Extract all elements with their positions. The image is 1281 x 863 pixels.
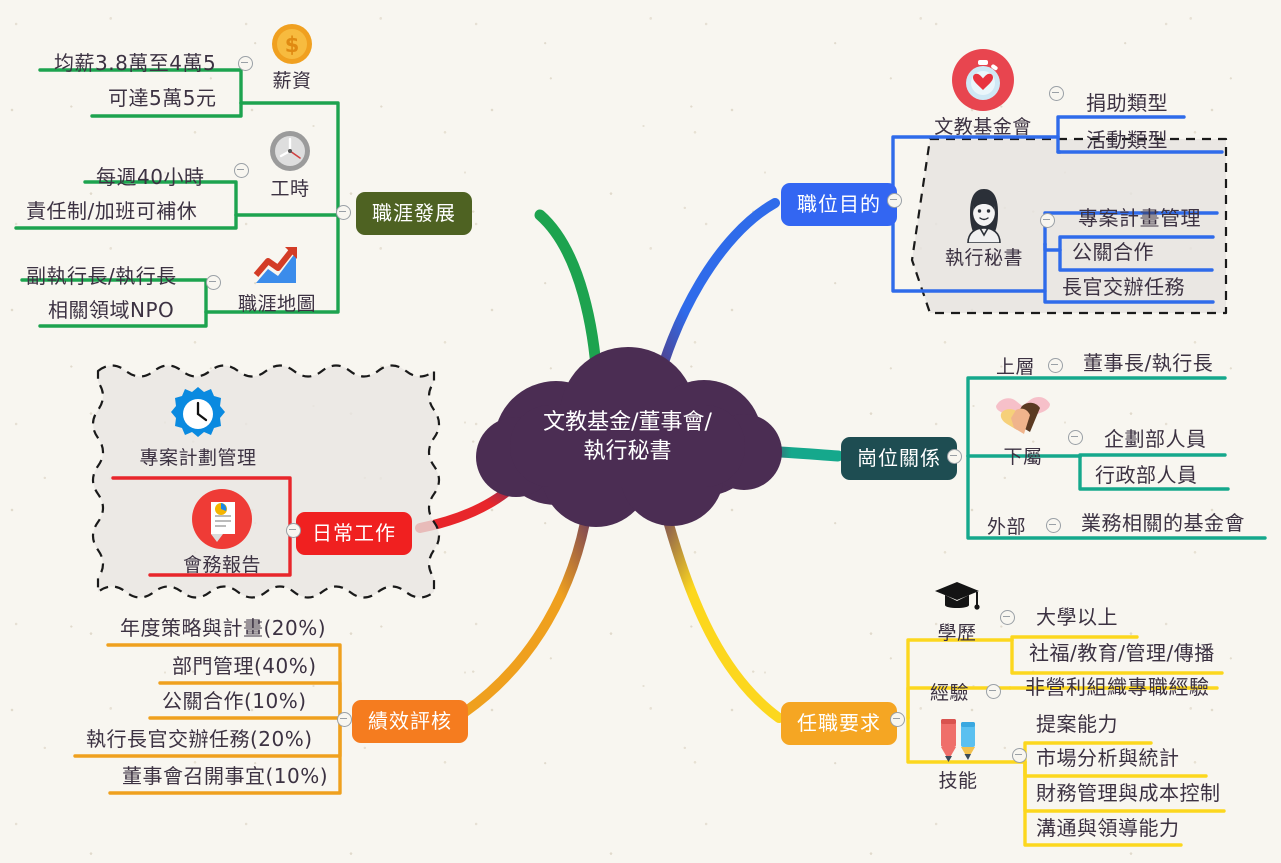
collapse-toggle-icon-daily-work[interactable]: [286, 523, 301, 538]
leaf-perf-dept-management[interactable]: 部門管理(40%): [172, 656, 317, 676]
group-label-salary: 薪資: [272, 66, 311, 93]
leaf-career-exec[interactable]: 副執行長/執行長: [26, 266, 177, 286]
collapse-toggle-icon-career-map[interactable]: [206, 275, 221, 290]
group-label-career-map: 職涯地圖: [238, 289, 316, 316]
collapse-toggle-icon-experience[interactable]: [986, 684, 1001, 699]
group-label-experience[interactable]: 經驗: [930, 678, 969, 705]
leaf-chairman-ceo[interactable]: 董事長/執行長: [1083, 353, 1213, 373]
group-label-external[interactable]: 外部: [987, 512, 1026, 539]
group-label-executive-secretary: 執行秘書: [945, 243, 1023, 270]
collapse-toggle-icon-external[interactable]: [1046, 518, 1061, 533]
growth-chart-icon: [252, 243, 302, 289]
report-document-icon: [191, 488, 253, 550]
group-executive-secretary[interactable]: 執行秘書: [938, 185, 1030, 270]
group-label-skills: 技能: [938, 766, 977, 793]
collapse-toggle-icon-upper[interactable]: [1048, 358, 1063, 373]
group-label-education: 學歷: [937, 618, 976, 645]
branch-pill-position-purpose[interactable]: 職位目的: [781, 183, 897, 226]
group-skills[interactable]: 技能: [926, 716, 990, 793]
central-label-line2: 執行秘書: [510, 437, 745, 466]
group-label-project-management: 專案計劃管理: [140, 443, 257, 470]
heart-foundation-icon: [951, 48, 1015, 112]
leaf-perf-board-meeting[interactable]: 董事會召開事宜(10%): [122, 766, 328, 786]
group-subordinate[interactable]: 下屬: [990, 388, 1056, 469]
leaf-npo-experience[interactable]: 非營利組織專職經驗: [1025, 677, 1210, 697]
collapse-toggle-icon-subordinate[interactable]: [1068, 430, 1083, 445]
woman-avatar-icon: [956, 185, 1012, 243]
central-node-label: 文教基金/董事會/ 執行秘書: [510, 408, 745, 466]
group-foundation[interactable]: 文教基金會: [920, 48, 1046, 139]
leaf-planning-dept[interactable]: 企劃部人員: [1104, 429, 1207, 449]
leaf-salary-average[interactable]: 均薪3.8萬至4萬5: [54, 53, 216, 73]
collapse-toggle-icon-salary[interactable]: [238, 56, 253, 71]
trunk-position-relations: [760, 451, 838, 456]
graduation-cap-icon: [933, 578, 981, 618]
leaf-salary-max[interactable]: 可達5萬5元: [108, 88, 216, 108]
group-label-work-hours: 工時: [270, 174, 309, 201]
collapse-toggle-icon-work-hours[interactable]: [234, 163, 249, 178]
leaf-career-npo[interactable]: 相關領域NPO: [48, 300, 174, 320]
central-label-line1: 文教基金/董事會/: [510, 408, 745, 437]
collapse-toggle-icon-executive-secretary[interactable]: [1040, 213, 1055, 228]
collapse-toggle-icon-career[interactable]: [336, 205, 351, 220]
leaf-majors[interactable]: 社福/教育/管理/傳播: [1029, 643, 1215, 663]
trunk-performance: [465, 492, 590, 712]
branch-pill-requirements[interactable]: 任職要求: [781, 702, 897, 745]
group-label-foundation: 文教基金會: [934, 112, 1032, 139]
branch-pill-position-relations[interactable]: 崗位關係: [841, 437, 957, 480]
leaf-perf-pr-cooperation[interactable]: 公關合作(10%): [162, 691, 307, 711]
branch-pill-career[interactable]: 職涯發展: [356, 192, 472, 235]
handshake-icon: [992, 388, 1054, 442]
trunk-daily-work: [420, 480, 520, 528]
leaf-perf-exec-tasks[interactable]: 執行長官交辦任務(20%): [86, 729, 313, 749]
leaf-communication-leadership[interactable]: 溝通與領導能力: [1036, 818, 1180, 838]
group-label-meeting-report: 會務報告: [183, 550, 261, 577]
trunk-career: [540, 215, 598, 400]
leaf-admin-dept[interactable]: 行政部人員: [1095, 465, 1198, 485]
leaf-proposal-ability[interactable]: 提案能力: [1036, 714, 1118, 734]
collapse-toggle-icon-requirements[interactable]: [890, 712, 905, 727]
collapse-toggle-icon-foundation[interactable]: [1049, 86, 1064, 101]
svg-text:$: $: [285, 33, 300, 57]
daily-work-group-boundary: [93, 366, 439, 598]
leaf-donation-type[interactable]: 捐助類型: [1086, 93, 1168, 113]
leaf-supervisor-tasks[interactable]: 長官交辦任務: [1062, 277, 1185, 297]
leaf-university-above[interactable]: 大學以上: [1036, 607, 1118, 627]
collapse-toggle-icon-position-purpose[interactable]: [887, 193, 902, 208]
leaf-market-analysis[interactable]: 市場分析與統計: [1036, 748, 1180, 768]
gear-clock-icon: [168, 385, 228, 443]
leaf-hours-overtime[interactable]: 責任制/加班可補休: [26, 201, 197, 221]
trunk-requirements: [660, 492, 779, 718]
pencils-icon: [930, 716, 986, 766]
leaf-financial-management[interactable]: 財務管理與成本控制: [1036, 783, 1221, 803]
leaf-project-plan-management[interactable]: 專案計畫管理: [1078, 208, 1201, 228]
group-work-hours[interactable]: 工時: [260, 128, 320, 201]
collapse-toggle-icon-education[interactable]: [1000, 610, 1015, 625]
branch-pill-daily-work[interactable]: 日常工作: [296, 512, 412, 555]
leaf-perf-annual-strategy[interactable]: 年度策略與計畫(20%): [120, 618, 326, 638]
group-label-subordinate: 下屬: [1003, 442, 1042, 469]
branch-pill-performance[interactable]: 績效評核: [352, 700, 468, 743]
coin-dollar-icon: $: [270, 22, 314, 66]
trunk-position-purpose: [654, 203, 775, 398]
collapse-toggle-icon-performance[interactable]: [337, 712, 352, 727]
mindmap-canvas: 文教基金/董事會/ 執行秘書 職涯發展 日常工作 績效評核 職位目的 崗位關係 …: [0, 0, 1281, 863]
group-education[interactable]: 學歷: [928, 578, 986, 645]
group-meeting-report[interactable]: 會務報告: [184, 488, 260, 577]
leaf-pr-cooperation[interactable]: 公關合作: [1072, 242, 1154, 262]
group-label-upper[interactable]: 上層: [996, 352, 1035, 379]
group-salary[interactable]: $ 薪資: [262, 22, 322, 93]
collapse-toggle-icon-position-relations[interactable]: [947, 449, 962, 464]
group-career-map[interactable]: 職涯地圖: [242, 243, 312, 316]
clock-icon: [267, 128, 313, 174]
leaf-activity-type[interactable]: 活動類型: [1086, 130, 1168, 150]
leaf-hours-weekly[interactable]: 每週40小時: [96, 167, 204, 187]
leaf-related-foundations[interactable]: 業務相關的基金會: [1081, 513, 1245, 533]
group-project-management[interactable]: 專案計劃管理: [160, 385, 236, 470]
collapse-toggle-icon-skills[interactable]: [1012, 748, 1027, 763]
